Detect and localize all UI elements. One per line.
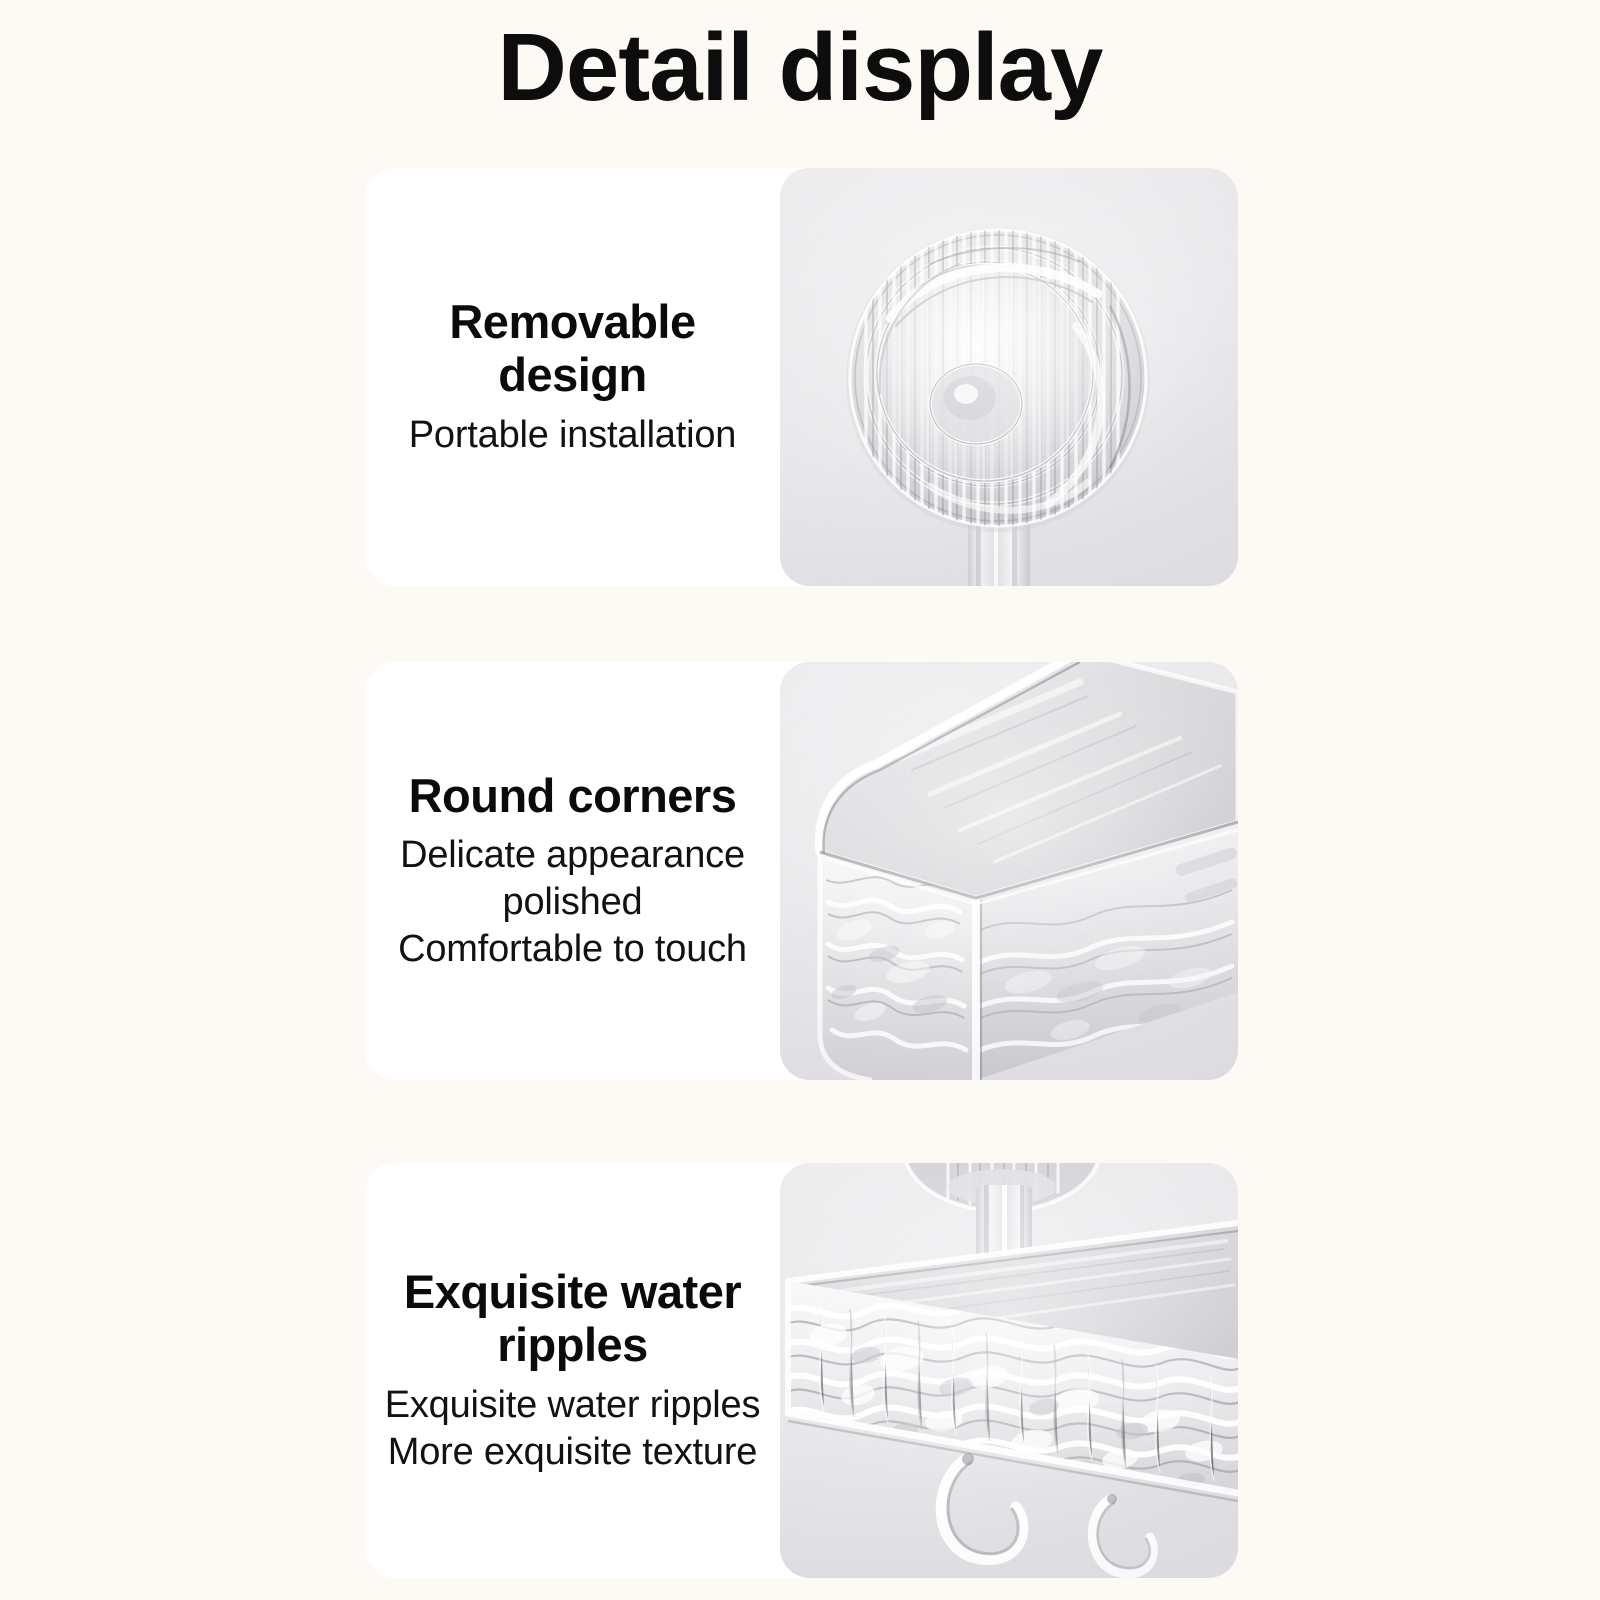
- rounded-corner-shelf-photo: [780, 662, 1238, 1080]
- card-subtitle: Delicate appearancepolishedComfortable t…: [398, 832, 747, 973]
- detail-card-removable-design: Removable design Portable installation: [365, 168, 1238, 586]
- detail-card-water-ripples: Exquisite water ripples Exquisite water …: [365, 1163, 1238, 1578]
- card-text-column: Round corners Delicate appearancepolishe…: [365, 662, 780, 1080]
- page-title: Detail display: [0, 14, 1600, 122]
- card-subtitle: Portable installation: [409, 412, 736, 459]
- card-heading: Exquisite water ripples: [393, 1265, 753, 1372]
- card-text-column: Exquisite water ripples Exquisite water …: [365, 1163, 780, 1578]
- water-ripple-shelf-photo: [780, 1163, 1238, 1578]
- card-subtitle: Exquisite water ripplesMore exquisite te…: [385, 1382, 761, 1476]
- card-heading: Removable design: [393, 295, 753, 402]
- card-text-column: Removable design Portable installation: [365, 168, 780, 586]
- detail-card-round-corners: Round corners Delicate appearancepolishe…: [365, 662, 1238, 1080]
- card-heading: Round corners: [409, 769, 737, 823]
- suction-cup-photo: [780, 168, 1238, 586]
- detail-display-page: Detail display Removable design Portable…: [0, 0, 1600, 1600]
